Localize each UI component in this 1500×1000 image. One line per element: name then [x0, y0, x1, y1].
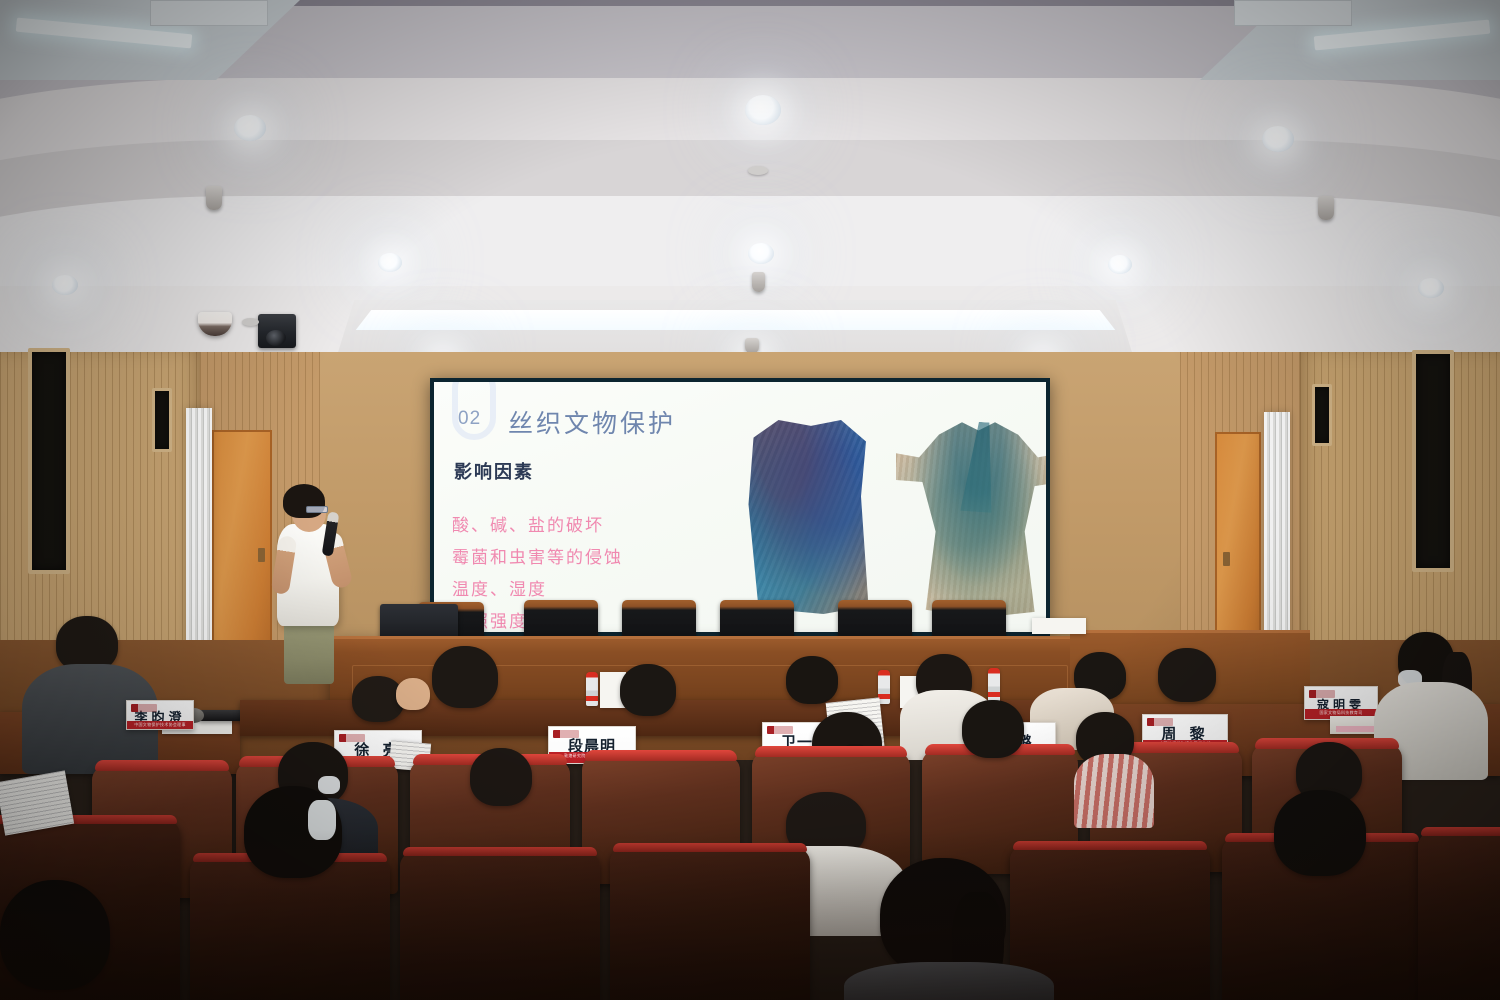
university-logo-icon [553, 730, 579, 738]
audience-shoulders [844, 962, 1054, 1000]
water-bottle [586, 672, 598, 706]
downlight-icon [748, 243, 774, 264]
presentation-slide: 02 丝织文物保护 影响因素 酸、碱、盐的破坏 霉菌和虫害等的侵蚀 温度、湿度 … [434, 382, 1046, 632]
presenter-laptop[interactable] [380, 604, 458, 640]
audience-head-foreground [1274, 790, 1366, 876]
university-logo-icon [767, 726, 793, 734]
ceiling-speaker-icon [1318, 196, 1334, 220]
blue-silk-robe-image [746, 418, 871, 614]
audience-head [620, 664, 676, 716]
university-logo-icon [339, 734, 365, 742]
slide-bullet: 霉菌和虫害等的侵蚀 [452, 542, 623, 574]
presenter-trousers [284, 620, 334, 684]
audience-head [1158, 648, 1216, 702]
ceiling-speaker-icon [206, 186, 222, 210]
ceiling-speaker-icon [752, 272, 765, 292]
acoustic-panel-right-small [1312, 384, 1332, 446]
audience-head [432, 646, 498, 708]
slide-section-title: 丝织文物保护 [508, 404, 676, 440]
downlight-icon [745, 95, 781, 125]
acoustic-panel-right [1412, 350, 1454, 572]
air-vent-icon [150, 0, 268, 26]
ceiling-light-panel-icon [348, 310, 1123, 330]
audience-shoulders-striped [1074, 754, 1154, 828]
university-logo-icon [1309, 690, 1335, 698]
audience-head-foreground [0, 880, 110, 990]
downlight-icon [1108, 255, 1132, 274]
face-mask-icon [318, 776, 340, 794]
water-bottle [878, 670, 890, 704]
audience-head [470, 748, 532, 806]
water-bottle [988, 668, 1000, 702]
downlight-icon [1418, 278, 1444, 298]
audience-head [786, 656, 838, 704]
beige-silk-robe-image [896, 412, 1046, 618]
auditorium-seat-foreground[interactable] [1418, 832, 1500, 1000]
audience-face [396, 678, 430, 710]
smoke-detector-icon [748, 166, 768, 175]
nameplate: 李昀澄 中国文物保护技术协会理事 [126, 700, 194, 730]
nameplate: 寇明雯 国家文物局科技教育司 [1304, 686, 1378, 720]
papers-on-desk [1032, 618, 1086, 634]
slide-bullet: 酸、碱、盐的破坏 [452, 510, 623, 542]
downlight-icon [234, 115, 266, 141]
acoustic-panel-left [28, 348, 70, 574]
door-handle-left[interactable] [258, 548, 265, 562]
downlight-icon [1262, 126, 1294, 152]
presenter-glasses [306, 506, 328, 513]
projection-screen: 02 丝织文物保护 影响因素 酸、碱、盐的破坏 霉菌和虫害等的侵蚀 温度、湿度 … [430, 378, 1050, 636]
downlight-icon [52, 275, 78, 295]
slide-subtitle: 影响因素 [454, 458, 534, 484]
downlight-icon [378, 253, 402, 272]
acoustic-panel-left-small [152, 388, 172, 452]
university-logo-icon [131, 704, 157, 712]
lecture-hall-scene: 02 丝织文物保护 影响因素 酸、碱、盐的破坏 霉菌和虫害等的侵蚀 温度、湿度 … [0, 0, 1500, 1000]
smoke-detector-icon [242, 318, 259, 326]
face-mask-icon [308, 800, 336, 840]
university-logo-icon [1147, 718, 1173, 726]
slide-section-number: 02 [458, 408, 481, 430]
door-handle-right[interactable] [1223, 552, 1230, 566]
audience-head [962, 700, 1024, 758]
auditorium-seat-foreground[interactable] [400, 852, 600, 1000]
ptz-camera-icon [258, 314, 296, 348]
air-vent-icon [1234, 0, 1352, 26]
auditorium-seat-foreground[interactable] [610, 848, 810, 1000]
nameplate-footer: 中国文物保护技术协会理事 [127, 721, 193, 729]
auditorium-seat-foreground[interactable] [190, 858, 390, 1000]
